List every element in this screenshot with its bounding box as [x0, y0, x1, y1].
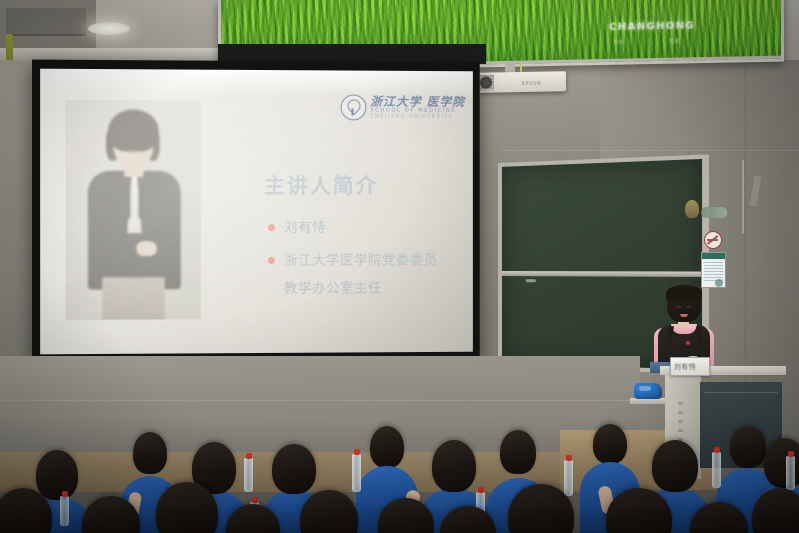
- chalk-rail: [502, 271, 702, 277]
- wall-seam: [498, 150, 799, 151]
- audience-shading: [0, 418, 799, 533]
- placard-seal: [715, 279, 723, 287]
- podium-name-card: 刘有恃: [670, 357, 710, 376]
- projection-screen-frame: 浙江大学 医学院 SCHOOL OF MEDICINE ZHEJIANG UNI…: [32, 60, 480, 363]
- tv-brand-label: CHANGHONG: [609, 20, 695, 33]
- bullet-text: 刘有恃: [284, 219, 326, 239]
- bullet-dot-icon: [268, 257, 275, 264]
- audience-area: [0, 418, 799, 533]
- speaker-eye: [676, 306, 681, 308]
- slide-logo: 浙江大学 医学院 SCHOOL OF MEDICINE ZHEJIANG UNI…: [340, 94, 465, 120]
- logo-chinese-name: 浙江大学 医学院: [370, 96, 465, 109]
- bullet-subtext: 教学办公室主任: [284, 277, 438, 297]
- speaker-badge: [686, 341, 690, 345]
- bullet-dot-icon: [268, 224, 275, 231]
- tv-sub-label-left: 长虹: [613, 39, 624, 46]
- projector-brand-label: EPSON: [522, 81, 541, 87]
- ceiling-duct: [6, 8, 86, 36]
- slide-bullet-item: 浙江大学医学院党委委员: [268, 251, 438, 271]
- no-smoking-icon: [704, 231, 722, 249]
- logo-english-line2: ZHEJIANG UNIVERSITY: [370, 114, 465, 120]
- blue-bag: [634, 383, 662, 399]
- stage-wall-seam: [0, 400, 640, 401]
- slide-title: 主讲人简介: [264, 170, 378, 200]
- portrait-washout-overlay: [66, 100, 201, 320]
- podium-name-card-text: 刘有恃: [674, 362, 696, 372]
- wall-object: [685, 200, 699, 218]
- ceiling-light: [88, 22, 130, 35]
- speaker-eye: [686, 306, 691, 308]
- speaker-fringe: [666, 285, 702, 301]
- tv-sub-label-right: 智能: [669, 38, 680, 45]
- ceiling-projector: EPSON: [478, 71, 566, 93]
- university-emblem-icon: [340, 94, 366, 120]
- wall-cable: [742, 160, 746, 234]
- slide-bullet-item: 刘有恃: [268, 219, 438, 239]
- slide-portrait-photo: [66, 100, 201, 320]
- chalk-piece: [526, 279, 536, 282]
- wall-bracket: [701, 207, 727, 218]
- wall-placard: [701, 252, 726, 288]
- podium-panel-edge: [704, 392, 778, 393]
- slide-logo-text: 浙江大学 医学院 SCHOOL OF MEDICINE ZHEJIANG UNI…: [370, 96, 465, 120]
- screen-glare: [40, 69, 473, 97]
- lecture-hall-scene: CHANGHONG 长虹 智能 EPSON: [0, 0, 799, 533]
- bullet-text: 浙江大学医学院党委委员: [284, 251, 438, 271]
- projection-screen: 浙江大学 医学院 SCHOOL OF MEDICINE ZHEJIANG UNI…: [40, 69, 473, 355]
- slide-bullet-list: 刘有恃 浙江大学医学院党委委员 教学办公室主任: [268, 219, 438, 309]
